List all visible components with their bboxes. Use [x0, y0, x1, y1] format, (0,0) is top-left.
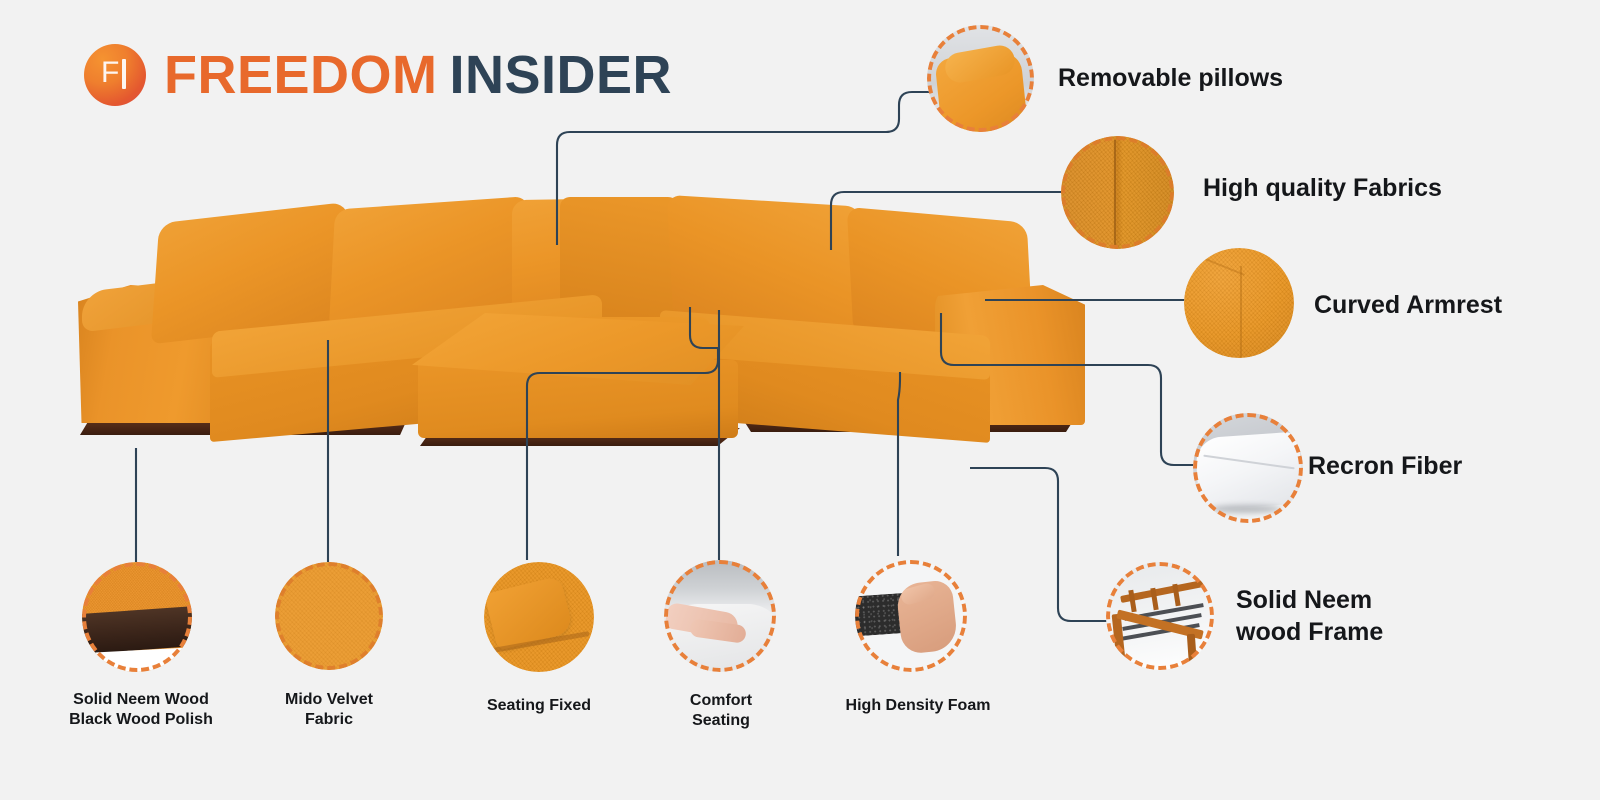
bubble-image-white-fiber-sheet: [1193, 413, 1303, 523]
callout-bubble-curved-armrest[interactable]: [1184, 248, 1294, 358]
callout-bubble-seating-fixed[interactable]: [484, 562, 594, 672]
callout-label-high-quality-fabrics: High quality Fabrics: [1203, 172, 1442, 204]
title-primary: FREEDOM: [164, 45, 438, 105]
callout-label-comfort-seating: Comfort Seating: [646, 691, 796, 732]
brand-header: F FREEDOMINSIDER: [84, 44, 672, 106]
bubble-image-hand-holding-foam-block: [855, 560, 967, 672]
callout-label-removable-pillows: Removable pillows: [1058, 62, 1283, 94]
callout-bubble-mido-velvet-fabric[interactable]: [275, 562, 383, 670]
callout-label-solid-neem-wood-frame: Solid Neem wood Frame: [1236, 584, 1383, 648]
bubble-image-wooden-frame-photo: [1106, 562, 1214, 670]
armrest-fabric-texture: [1184, 248, 1294, 358]
product-image-sectional-sofa: [60, 185, 1090, 490]
logo-letter-l: [122, 59, 126, 89]
callout-bubble-solid-neem-wood-frame[interactable]: [1106, 562, 1214, 670]
page-title: FREEDOMINSIDER: [164, 48, 672, 102]
bubble-image-pillow-closeup: [927, 25, 1034, 132]
bubble-image-wood-polish-closeup: [82, 562, 192, 672]
sofa-back-cushion-4: [667, 195, 868, 329]
bubble-image-velvet-swatch: [275, 562, 383, 670]
callout-label-mido-velvet-fabric: Mido Velvet Fabric: [254, 690, 404, 731]
bubble-image-armrest-closeup: [1184, 248, 1294, 358]
title-secondary: INSIDER: [450, 45, 673, 105]
black-polish-wood-band: [82, 606, 192, 655]
callout-bubble-comfort-seating[interactable]: [664, 560, 776, 672]
logo-letter-f: F: [101, 58, 118, 88]
callout-label-solid-neem-wood-black-polish: Solid Neem Wood Black Wood Polish: [56, 690, 226, 731]
fabric-seam-line: [1114, 140, 1116, 245]
armrest-seam-vertical: [1240, 266, 1242, 358]
freedom-logo-icon: F: [84, 44, 146, 106]
bubble-image-fixed-seat-closeup: [484, 562, 594, 672]
fabric-texture: [1061, 136, 1174, 249]
callout-bubble-recron-fiber[interactable]: [1193, 413, 1303, 523]
callout-label-recron-fiber: Recron Fiber: [1308, 450, 1462, 482]
fiber-sheet: [1195, 431, 1303, 510]
velvet-texture: [275, 562, 383, 670]
callout-label-seating-fixed: Seating Fixed: [464, 696, 614, 716]
fiber-shadow: [1211, 505, 1281, 513]
callout-bubble-removable-pillows[interactable]: [927, 25, 1034, 132]
bubble-image-fabric-seam-closeup: [1061, 136, 1174, 249]
bubble-image-hand-pressing-foam: [664, 560, 776, 672]
infographic-canvas: F FREEDOMINSIDER: [0, 0, 1600, 800]
callout-label-high-density-foam: High Density Foam: [830, 696, 1006, 716]
callout-label-curved-armrest: Curved Armrest: [1314, 289, 1502, 321]
callout-bubble-high-quality-fabrics[interactable]: [1061, 136, 1174, 249]
callout-bubble-high-density-foam[interactable]: [855, 560, 967, 672]
callout-bubble-solid-neem-wood-black-polish[interactable]: [82, 562, 192, 672]
